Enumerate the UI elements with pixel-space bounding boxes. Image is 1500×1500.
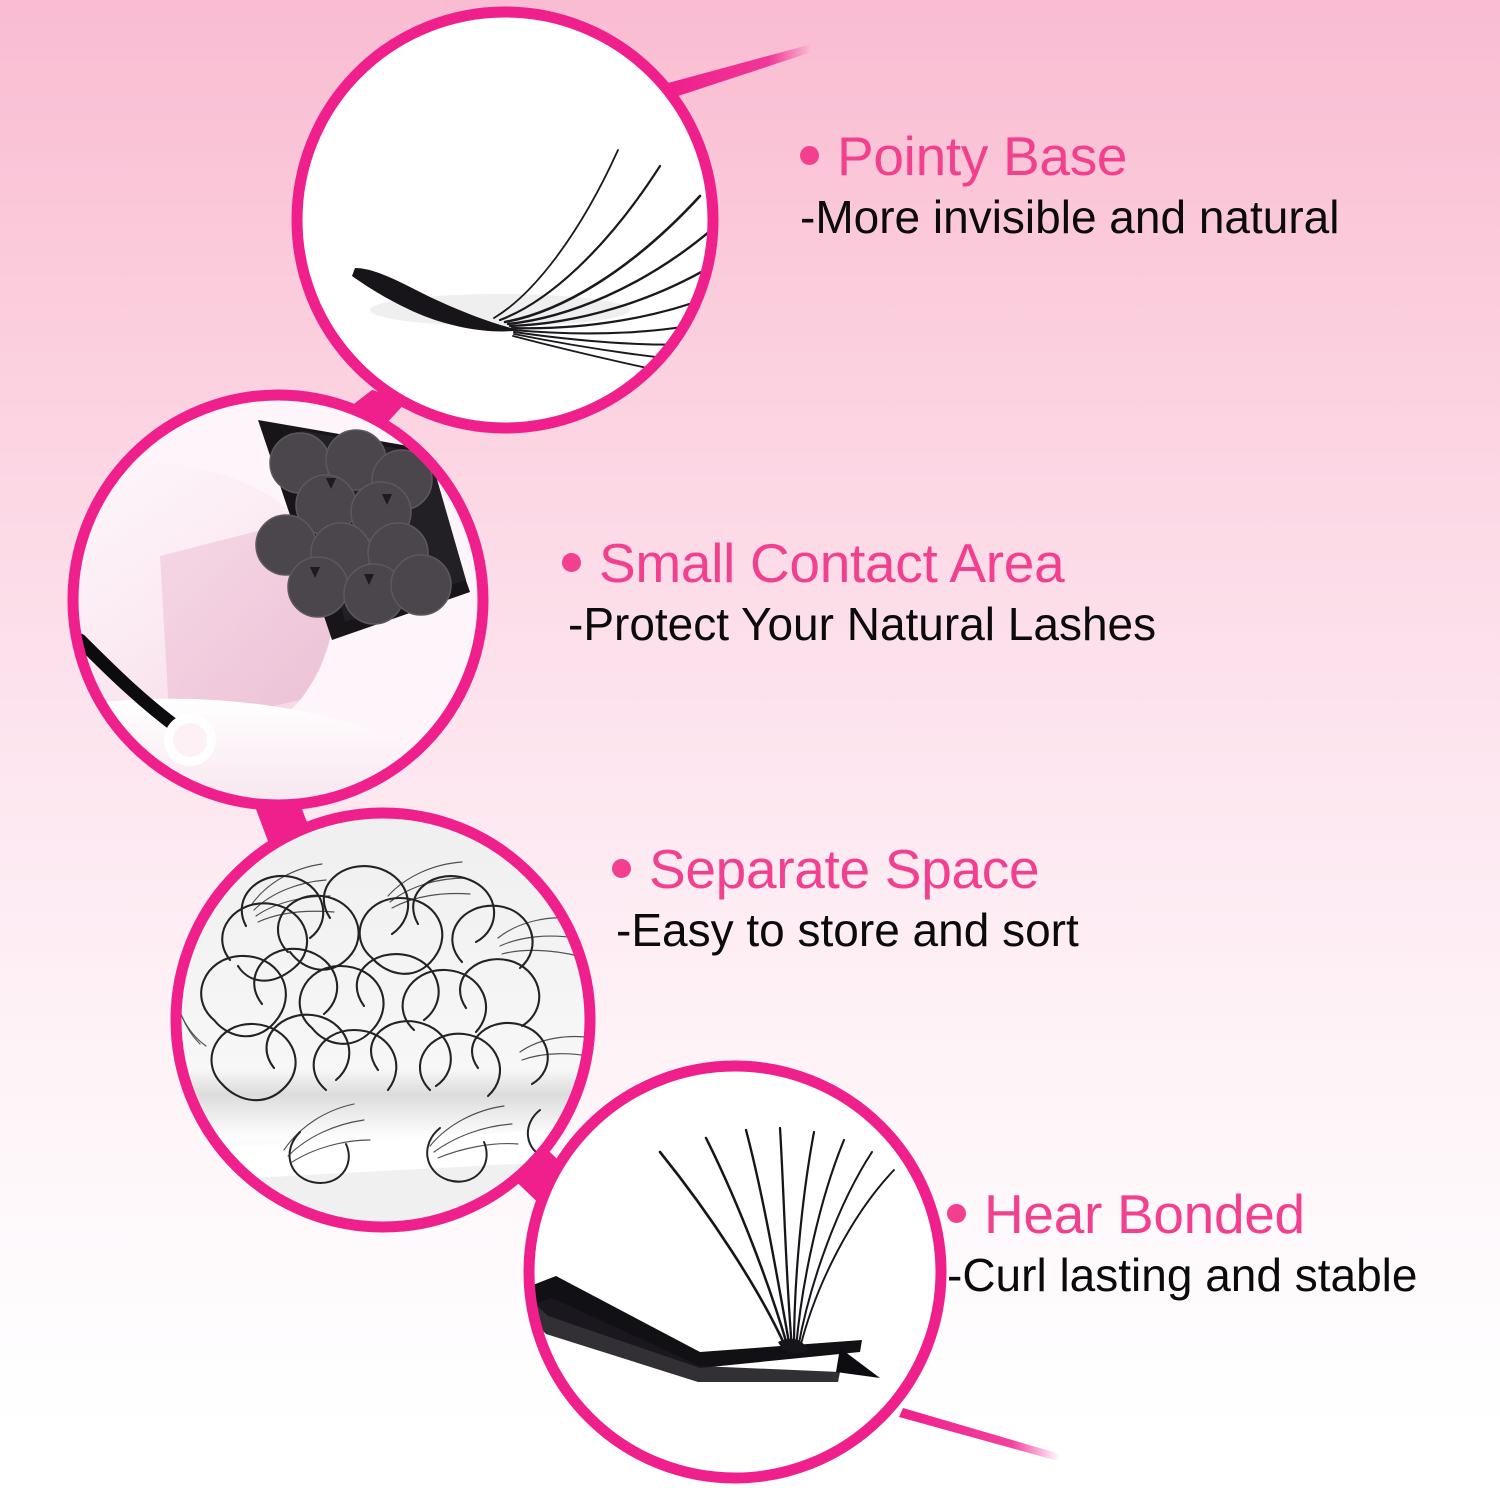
feature-text-small-contact-area: Small Contact Area -Protect Your Natural… [562,535,1156,648]
bullet-dot-icon [800,146,819,165]
leader-line-pointy [668,44,812,98]
photo-separate-space [172,813,598,1227]
photo-pointy-base [297,12,744,428]
feature-heading: Separate Space [612,841,1079,897]
photo-small-contact-area [73,395,483,805]
feature-subtitle: -Curl lasting and stable [947,1251,1417,1299]
feature-title: Hear Bonded [984,1186,1305,1242]
photo-hear-bonded [520,1066,941,1478]
bullet-dot-icon [562,553,581,572]
infographic-page: Pointy Base -More invisible and natural … [0,0,1500,1500]
feature-subtitle: -Protect Your Natural Lashes [568,600,1156,648]
bullet-dot-icon [612,859,631,878]
feature-subtitle: -Easy to store and sort [616,906,1079,954]
feature-title: Pointy Base [837,128,1127,184]
feature-subtitle: -More invisible and natural [800,193,1340,241]
bullet-dot-icon [947,1204,966,1223]
feature-title: Separate Space [649,841,1039,897]
feature-text-pointy-base: Pointy Base -More invisible and natural [800,128,1340,241]
feature-heading: Small Contact Area [562,535,1156,591]
feature-heading: Pointy Base [800,128,1340,184]
leader-line-bonded [899,1408,1060,1461]
feature-text-hear-bonded: Hear Bonded -Curl lasting and stable [947,1186,1417,1299]
feature-heading: Hear Bonded [947,1186,1417,1242]
feature-title: Small Contact Area [599,535,1064,591]
feature-text-separate-space: Separate Space -Easy to store and sort [612,841,1079,954]
